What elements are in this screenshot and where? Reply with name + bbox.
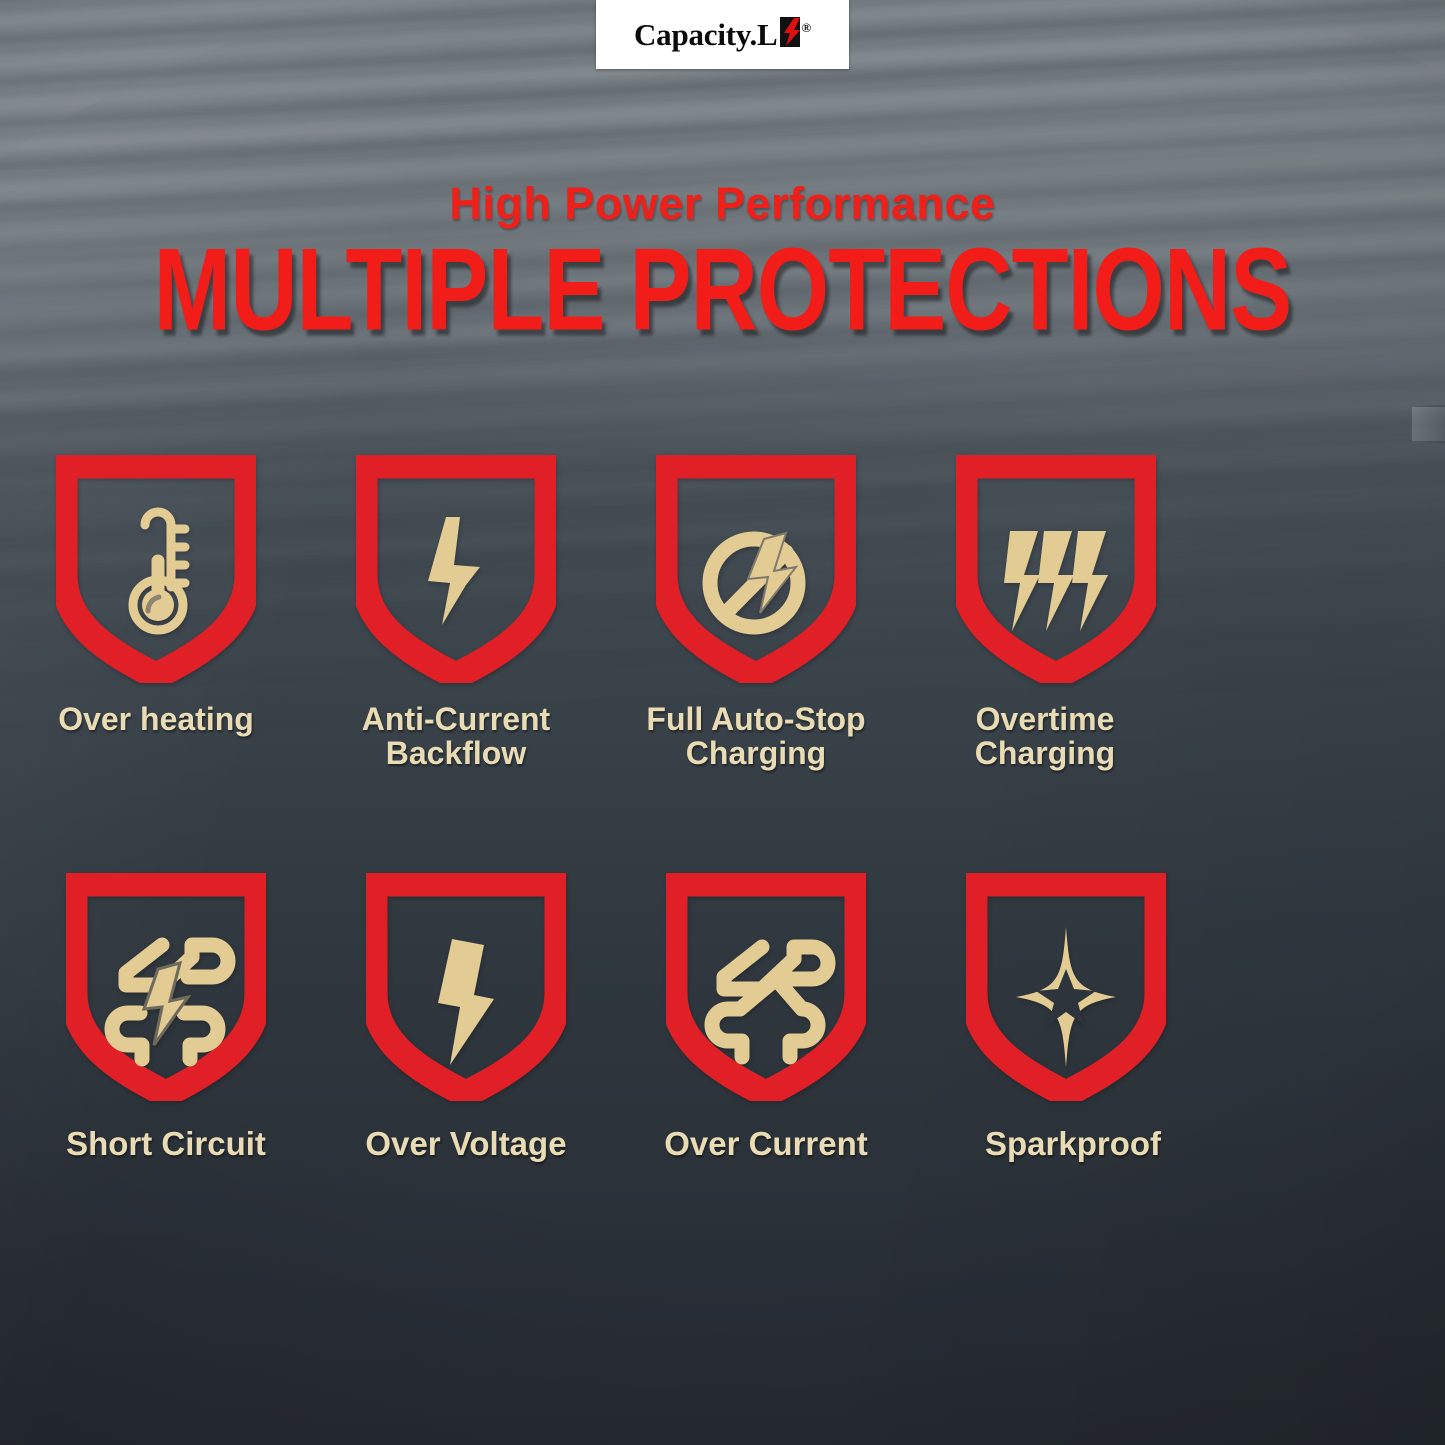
shield-outline-icon: [66, 873, 266, 1101]
brand-logo: Capacity.L ®: [596, 0, 849, 69]
protection-label: Anti-Current Backflow: [362, 703, 550, 771]
shield-outline-icon: [956, 455, 1156, 683]
protection-item-overtime-charging: Overtime Charging: [906, 455, 1206, 771]
shield-outline-icon: [666, 873, 866, 1101]
protection-label: Over Current: [664, 1127, 868, 1162]
protection-grid: Over heating Anti-Current Backflow: [0, 455, 1445, 1162]
protection-item-anti-current-backflow: Anti-Current Backflow: [306, 455, 606, 771]
lightning-bolt-icon: [438, 939, 494, 1065]
brand-logo-label: Capacity.L: [634, 17, 778, 52]
shield-badge: [966, 873, 1166, 1101]
shield-badge: [66, 873, 266, 1101]
shield-outline-icon: [366, 873, 566, 1101]
shield-outline-icon: [56, 455, 256, 683]
shield-outline-icon: [356, 455, 556, 683]
page-title: MULTIPLE PROTECTIONS: [0, 232, 1445, 328]
protection-item-over-heating: Over heating: [6, 455, 306, 771]
bolt-letter-icon: [779, 17, 801, 52]
lightning-bolt-thin-icon: [428, 517, 480, 625]
protection-item-over-current: Over Current: [616, 873, 916, 1162]
brand-logo-text: Capacity.L ®: [634, 17, 811, 52]
protection-label: Sparkproof: [985, 1127, 1161, 1162]
shield-badge: [956, 455, 1156, 683]
protection-label: Full Auto-Stop Charging: [646, 703, 865, 771]
shield-outline-icon: [656, 455, 856, 683]
protection-label: Over heating: [58, 703, 254, 737]
protection-item-over-voltage: Over Voltage: [316, 873, 616, 1162]
triple-lightning-icon: [1004, 531, 1108, 631]
shield-outline-icon: [966, 873, 1166, 1101]
protection-label: Overtime Charging: [975, 703, 1115, 771]
protection-item-sparkproof: Sparkproof: [916, 873, 1216, 1162]
serpentine-wire-icon: [712, 947, 828, 1057]
poster: Capacity.L ® High Power Performance MULT…: [0, 0, 1445, 1445]
protection-item-short-circuit: Short Circuit: [16, 873, 316, 1162]
shield-badge: [656, 455, 856, 683]
registered-mark-icon: ®: [802, 20, 812, 35]
protection-label: Short Circuit: [66, 1127, 266, 1162]
shield-badge: [666, 873, 866, 1101]
page-title-text: MULTIPLE PROTECTIONS: [154, 232, 1292, 349]
no-charging-circle-icon: [710, 533, 798, 627]
shield-badge: [356, 455, 556, 683]
protection-item-full-auto-stop-charging: Full Auto-Stop Charging: [606, 455, 906, 771]
subheadline: High Power Performance: [0, 178, 1445, 230]
shield-badge: [56, 455, 256, 683]
shield-badge: [366, 873, 566, 1101]
protection-row-1: Over heating Anti-Current Backflow: [6, 455, 1445, 771]
protection-label: Over Voltage: [365, 1127, 566, 1162]
protection-row-2: Short Circuit Over Voltage: [16, 873, 1445, 1162]
spark-star-icon: [1016, 927, 1116, 1067]
